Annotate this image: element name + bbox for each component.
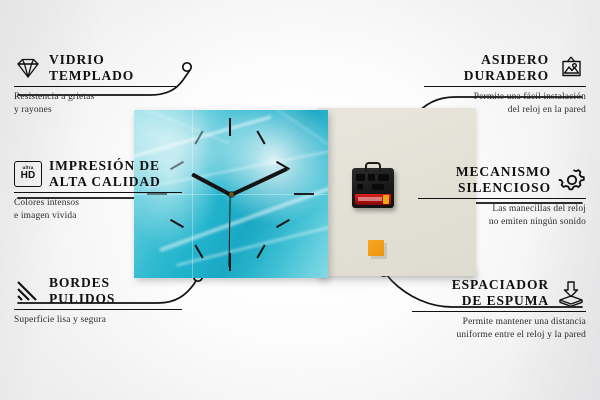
dot-vidrio-templado	[183, 63, 191, 71]
movement-vent	[368, 174, 375, 181]
feature-header: BORDES PULIDOS	[14, 275, 182, 306]
feature-vidrio-templado[interactable]: VIDRIO TEMPLADO Resistencia a grietas y …	[14, 52, 176, 116]
ultra-hd-icon: ultra HD	[14, 161, 42, 187]
movement-vent	[356, 174, 365, 181]
divider	[14, 192, 182, 193]
picture-hanger-icon	[556, 55, 586, 81]
divider	[14, 86, 176, 87]
battery-plus-terminal	[383, 195, 389, 204]
feature-bordes-pulidos[interactable]: BORDES PULIDOS Superficie lisa y segura	[14, 275, 182, 327]
gear-icon	[558, 167, 586, 193]
feature-espaciador-de-espuma[interactable]: ESPACIADOR DE ESPUMA Permite mantener un…	[412, 277, 586, 341]
diamond-icon	[14, 56, 42, 80]
feature-desc-line1: Permite mantener una distancia	[412, 316, 586, 328]
feature-desc-line2: no emiten ningún sonido	[418, 216, 586, 228]
feature-header: ESPACIADOR DE ESPUMA	[412, 277, 586, 308]
movement-vent	[372, 184, 384, 190]
feature-title: ESPACIADOR DE ESPUMA	[452, 277, 549, 308]
feature-desc-line2: y rayones	[14, 104, 176, 116]
feature-desc-line1: Las manecillas del reloj	[418, 203, 586, 215]
feature-desc-line1: Superficie lisa y segura	[14, 314, 182, 326]
aa-battery	[355, 194, 391, 205]
feature-mecanismo-silencioso[interactable]: MECANISMO SILENCIOSO Las manecillas del …	[418, 164, 586, 228]
feature-title: IMPRESIÓN DE ALTA CALIDAD	[49, 158, 161, 189]
feature-impresion-alta-calidad[interactable]: ultra HD IMPRESIÓN DE ALTA CALIDAD Color…	[14, 158, 182, 222]
polished-edges-icon	[14, 279, 42, 303]
feature-asidero-duradero[interactable]: ASIDERO DURADERO Permite una fácil insta…	[424, 52, 586, 116]
hanger-loop	[365, 162, 381, 172]
feature-title: ASIDERO DURADERO	[464, 52, 549, 83]
feature-desc-line1: Resistencia a grietas	[14, 91, 176, 103]
foam-spacer-icon	[556, 280, 586, 306]
movement-vent	[378, 174, 389, 181]
ultra-hd-icon-bottom: HD	[21, 171, 36, 181]
divider	[418, 198, 586, 199]
feature-desc-line2: del reloj en la pared	[424, 104, 586, 116]
feature-title: BORDES PULIDOS	[49, 275, 115, 306]
feature-title: VIDRIO TEMPLADO	[49, 52, 134, 83]
clock-movement-box	[352, 168, 394, 208]
foam-spacer-pad	[368, 240, 384, 256]
divider	[14, 309, 182, 310]
battery-label	[358, 197, 382, 201]
feature-desc-line2: uniforme entre el reloj y la pared	[412, 329, 586, 341]
divider	[412, 311, 586, 312]
feature-desc-line1: Permite una fácil instalación	[424, 91, 586, 103]
feature-header: MECANISMO SILENCIOSO	[418, 164, 586, 195]
feature-desc-line1: Colores intensos	[14, 197, 182, 209]
infographic-canvas: VIDRIO TEMPLADO Resistencia a grietas y …	[0, 0, 600, 400]
feature-desc-line2: e imagen vívida	[14, 210, 182, 222]
feature-header: ASIDERO DURADERO	[424, 52, 586, 83]
divider	[424, 86, 586, 87]
feature-title: MECANISMO SILENCIOSO	[456, 164, 551, 195]
feature-header: ultra HD IMPRESIÓN DE ALTA CALIDAD	[14, 158, 182, 189]
feature-header: VIDRIO TEMPLADO	[14, 52, 176, 83]
movement-vent	[357, 184, 363, 190]
